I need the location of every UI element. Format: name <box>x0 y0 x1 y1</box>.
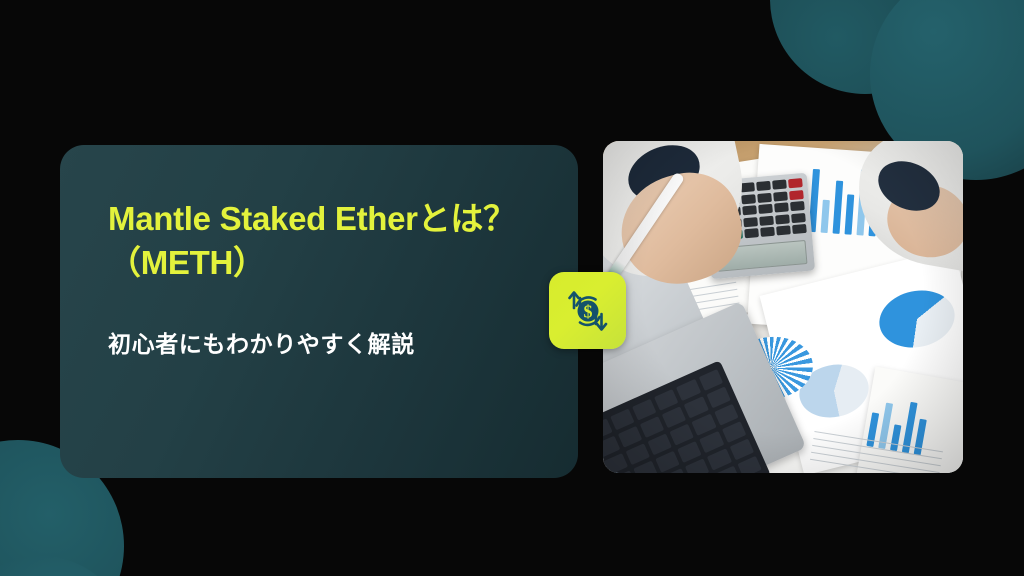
photo-vignette <box>603 141 963 473</box>
money-exchange-badge: $ <box>549 272 626 349</box>
hero-photo <box>603 141 963 473</box>
page-title: Mantle Staked Etherとは？ （METH） <box>108 197 548 285</box>
title-card: Mantle Staked Etherとは？ （METH） 初心者にもわかりやす… <box>60 145 578 478</box>
decor-circle-bottom-left-small <box>0 556 130 576</box>
title-card-content: Mantle Staked Etherとは？ （METH） 初心者にもわかりやす… <box>108 197 548 359</box>
page-subtitle: 初心者にもわかりやすく解説 <box>108 325 548 359</box>
decor-circle-top-right-small <box>770 0 960 94</box>
money-exchange-icon: $ <box>563 286 613 336</box>
photo-scene <box>603 141 963 473</box>
dollar-symbol: $ <box>583 301 592 321</box>
slide-canvas: Mantle Staked Etherとは？ （METH） 初心者にもわかりやす… <box>0 0 1024 576</box>
